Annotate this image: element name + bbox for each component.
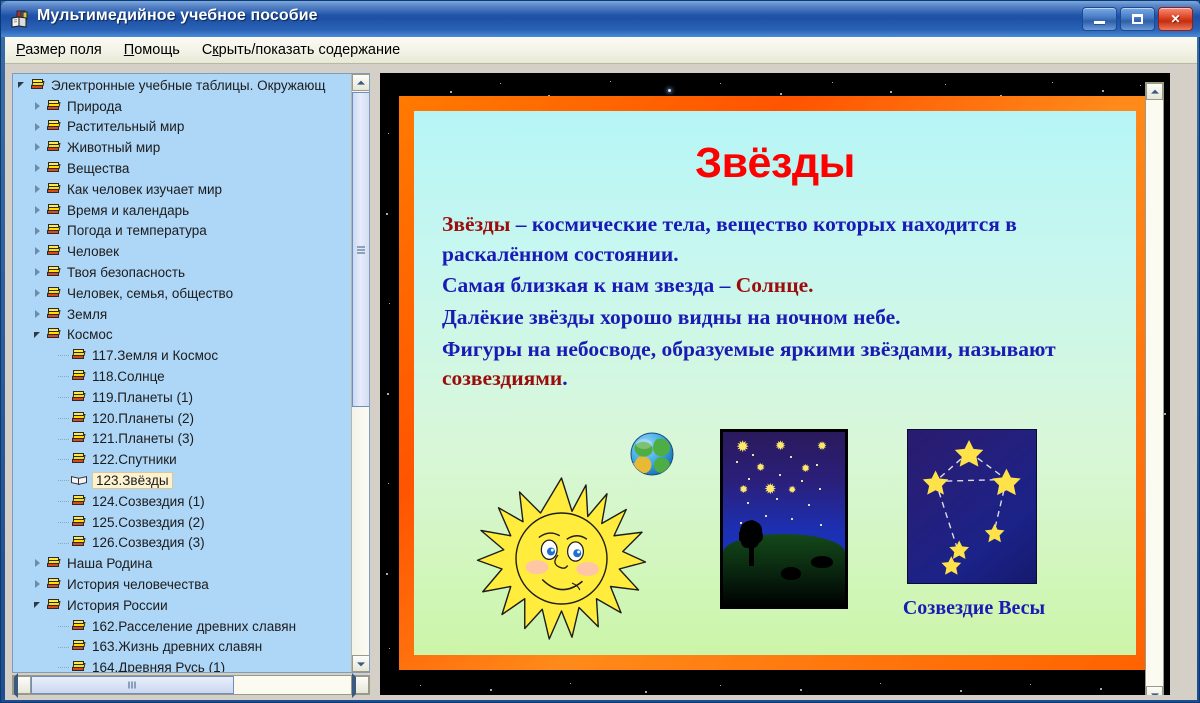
background-star <box>832 82 833 83</box>
tree-item[interactable]: 162.Расселение древних славян <box>13 616 352 637</box>
chevron-up-icon <box>357 80 365 84</box>
book-closed-icon <box>71 391 86 404</box>
star-dot <box>808 504 810 506</box>
book-closed-icon <box>46 287 61 300</box>
tree-indent-spacer <box>58 345 71 366</box>
tree-indent-spacer <box>58 470 71 491</box>
tree-item-label: Твоя безопасность <box>65 265 187 280</box>
background-star <box>386 213 388 215</box>
slide-canvas: Звёзды Звёзды – космические тела, вещест… <box>414 111 1136 655</box>
tree-item-label: 125.Созвездия (2) <box>90 515 207 530</box>
tree-indent-spacer <box>58 657 71 672</box>
tree-hscroll-track[interactable] <box>31 676 351 694</box>
background-star <box>420 685 421 686</box>
close-icon: ✕ <box>1159 8 1192 30</box>
menu-item-field-size[interactable]: Размер поля <box>5 39 113 61</box>
book-open-icon <box>71 474 88 487</box>
menu-item-post: омощь <box>134 42 180 58</box>
window-frame: Мультимедийное учебное пособие ✕ Размер … <box>0 0 1200 703</box>
background-star <box>945 84 946 85</box>
background-star <box>388 483 389 484</box>
tree-scroll-right-button[interactable] <box>351 676 369 694</box>
tree-item[interactable]: 121.Планеты (3) <box>13 429 352 450</box>
tree-indent-spacer <box>58 637 71 658</box>
slide-title: Звёзды <box>414 139 1136 188</box>
tree-item[interactable]: 164.Древняя Русь (1) <box>13 657 352 672</box>
background-star <box>387 393 389 395</box>
tree-item[interactable]: Растительный мир <box>13 117 352 138</box>
book-closed-icon <box>46 120 61 133</box>
night-sky-illustration: ✹ ✹ ✹ ✹ ✹ ✹ ✹ ✹ <box>720 429 848 609</box>
background-star <box>668 89 671 92</box>
star-dot <box>747 502 749 504</box>
tree-item[interactable]: Земля <box>13 304 352 325</box>
background-star <box>890 91 892 93</box>
background-star <box>490 689 492 691</box>
maximize-icon <box>1132 14 1143 24</box>
tree-indent-spacer <box>58 491 71 512</box>
star-dot <box>820 524 822 526</box>
slide-paragraph: Фигуры на небосводе, образуемые яркими з… <box>442 335 1108 394</box>
expand-triangle-icon[interactable] <box>33 304 46 325</box>
tree-item[interactable]: 124.Созвездия (1) <box>13 491 352 512</box>
star-dot <box>791 518 793 520</box>
book-closed-icon <box>71 536 86 549</box>
close-button[interactable]: ✕ <box>1158 7 1193 31</box>
star-dot <box>801 480 803 482</box>
background-star <box>645 691 647 693</box>
tree-item-label: История человечества <box>65 577 211 592</box>
tree-silhouette-icon <box>739 520 765 566</box>
book-closed-icon <box>46 308 61 321</box>
slide-orange-frame: Звёзды Звёзды – космические тела, вещест… <box>399 96 1151 670</box>
slide-scroll-up-button[interactable] <box>1146 83 1163 100</box>
background-star <box>450 91 452 93</box>
constellation-libra-illustration <box>907 429 1037 584</box>
star-dot <box>819 488 821 490</box>
menu-item-pre: С <box>202 42 212 58</box>
background-star <box>500 83 501 84</box>
menu-accel: П <box>124 42 134 58</box>
slide-paragraph: Самая близкая к нам звезда – Солнце. <box>442 271 1108 301</box>
star-dot <box>816 464 818 466</box>
menu-item-post: рыть/показать содержание <box>219 42 401 58</box>
book-icon <box>10 9 30 29</box>
background-star <box>386 573 388 575</box>
chevron-up-icon <box>1151 89 1159 93</box>
background-star <box>388 133 389 134</box>
expand-triangle-icon[interactable] <box>33 117 46 138</box>
star-icon: ✹ <box>764 482 777 497</box>
collapse-triangle-icon[interactable] <box>33 325 46 346</box>
tree-indent-spacer <box>58 616 71 637</box>
book-closed-icon <box>71 432 86 445</box>
window-controls: ✕ <box>1082 7 1193 31</box>
expand-triangle-icon[interactable] <box>33 553 46 574</box>
tree-item-label: 121.Планеты (3) <box>90 431 196 446</box>
expand-triangle-icon[interactable] <box>33 283 46 304</box>
application-window: Мультимедийное учебное пособие ✕ Размер … <box>0 0 1200 703</box>
book-closed-icon <box>30 79 45 92</box>
background-star <box>800 689 802 691</box>
contents-tree-panel: Электронные учебные таблицы. ОкружающПри… <box>12 73 370 673</box>
slide-body-text: Звёзды – космические тела, вещество кото… <box>442 210 1108 394</box>
star-dot <box>790 456 792 458</box>
book-closed-icon <box>71 661 86 672</box>
tree-item-label: 123.Звёзды <box>92 472 173 489</box>
background-star <box>1164 413 1166 415</box>
star-dot <box>752 454 754 456</box>
star-dot <box>736 461 738 463</box>
slide-text-run: Самая близкая к нам звезда – <box>442 273 736 297</box>
chevron-left-icon <box>14 673 18 698</box>
tree-indent-spacer <box>58 533 71 554</box>
tree-item-label: Наша Родина <box>65 556 154 571</box>
book-closed-icon <box>46 162 61 175</box>
title-bar: Мультимедийное учебное пособие ✕ <box>1 1 1200 37</box>
chevron-right-icon <box>352 673 356 698</box>
tree-item[interactable]: Как человек изучает мир <box>13 179 352 200</box>
background-star <box>880 683 881 684</box>
book-closed-icon <box>46 599 61 612</box>
maximize-button[interactable] <box>1120 7 1155 31</box>
background-star <box>389 303 390 304</box>
tree-horizontal-scrollbar[interactable] <box>12 675 370 695</box>
star-dot <box>776 498 778 500</box>
slide-viewer: Звёзды Звёзды – космические тела, вещест… <box>380 73 1170 695</box>
contents-tree-viewport: Электронные учебные таблицы. ОкружающПри… <box>13 74 352 672</box>
book-closed-icon <box>71 370 86 383</box>
slide-text-run: созвездиями <box>442 366 562 390</box>
tree-item-label: Животный мир <box>65 140 162 155</box>
book-closed-icon <box>46 183 61 196</box>
tree-item[interactable]: Человек, семья, общество <box>13 283 352 304</box>
tree-item[interactable]: Погода и температура <box>13 221 352 242</box>
book-closed-icon <box>46 204 61 217</box>
tree-item[interactable]: 119.Планеты (1) <box>13 387 352 408</box>
expand-triangle-icon[interactable] <box>33 241 46 262</box>
tree-item[interactable]: Животный мир <box>13 137 352 158</box>
tree-item-label: Космос <box>65 327 115 342</box>
earth-globe-illustration <box>629 431 675 477</box>
tree-item[interactable]: История России <box>13 595 352 616</box>
scrollbar-grip-icon <box>128 682 137 689</box>
tree-indent-spacer <box>58 449 71 470</box>
book-closed-icon <box>46 100 61 113</box>
slide-text-run: Солнце. <box>736 273 814 297</box>
slide-vertical-scrollbar[interactable] <box>1145 82 1164 695</box>
tree-item[interactable]: Твоя безопасность <box>13 262 352 283</box>
tree-item-label: Растительный мир <box>65 119 186 134</box>
star-icon: ✹ <box>739 485 748 496</box>
tree-item-label: 164.Древняя Русь (1) <box>90 660 227 672</box>
tree-item-label: Человек <box>65 244 121 259</box>
background-star <box>1140 85 1141 86</box>
slide-text-run: . <box>562 366 567 390</box>
scrollbar-grip-icon <box>357 246 365 253</box>
background-star <box>1052 82 1053 83</box>
menu-item-toggle-contents[interactable]: Скрыть/показать содержание <box>191 39 411 61</box>
tree-item-label: 126.Созвездия (3) <box>90 535 207 550</box>
slide-text-run: Далёкие звёзды хорошо видны на ночном не… <box>442 305 900 329</box>
book-closed-icon <box>71 640 86 653</box>
tree-item[interactable]: Космос <box>13 325 352 346</box>
background-star <box>610 81 611 82</box>
tree-item-label: 122.Спутники <box>90 452 179 467</box>
tree-indent-spacer <box>58 366 71 387</box>
background-star <box>960 690 962 692</box>
expand-triangle-icon[interactable] <box>33 574 46 595</box>
tree-scroll-left-button[interactable] <box>13 676 31 694</box>
tree-item[interactable]: Электронные учебные таблицы. Окружающ <box>13 75 352 96</box>
background-star <box>720 685 721 686</box>
bush-silhouette <box>811 556 833 568</box>
window-title: Мультимедийное учебное пособие <box>37 7 318 25</box>
menu-bar: Размер поля Помощь Скрыть/показать содер… <box>5 37 1197 64</box>
tree-indent-spacer <box>58 429 71 450</box>
background-star <box>1102 90 1104 92</box>
slide-paragraph: Звёзды – космические тела, вещество кото… <box>442 210 1108 269</box>
star-icon: ✹ <box>775 439 786 452</box>
tree-item[interactable]: Наша Родина <box>13 553 352 574</box>
tree-item[interactable]: Природа <box>13 96 352 117</box>
tree-item-label: 117.Земля и Космос <box>90 348 220 363</box>
book-closed-icon <box>71 412 86 425</box>
expand-triangle-icon[interactable] <box>33 200 46 221</box>
tree-item-label: 120.Планеты (2) <box>90 411 196 426</box>
book-closed-icon <box>71 516 86 529</box>
tree-item-label: Время и календарь <box>65 203 191 218</box>
tree-item-label: Земля <box>65 307 109 322</box>
tree-item-label: Человек, семья, общество <box>65 286 235 301</box>
tree-item[interactable]: 126.Созвездия (3) <box>13 533 352 554</box>
slide-scroll-down-button[interactable] <box>1146 686 1163 695</box>
star-dot <box>748 478 750 480</box>
constellation-caption: Созвездие Весы <box>884 597 1064 620</box>
expand-triangle-icon[interactable] <box>33 179 46 200</box>
background-star <box>780 93 782 95</box>
night-sky-canvas: ✹ ✹ ✹ ✹ ✹ ✹ ✹ ✹ <box>723 432 845 606</box>
window-content: Электронные учебные таблицы. ОкружающПри… <box>5 64 1197 700</box>
cartoon-sun-illustration <box>474 471 649 646</box>
book-closed-icon <box>46 557 61 570</box>
slide-paragraph: Далёкие звёзды хорошо видны на ночном не… <box>442 303 1108 333</box>
tree-item[interactable]: Время и календарь <box>13 200 352 221</box>
background-star <box>570 683 571 684</box>
tree-indent-spacer <box>58 387 71 408</box>
expand-triangle-icon[interactable] <box>33 262 46 283</box>
bush-silhouette <box>781 567 801 580</box>
tree-scrollbar-thumb[interactable] <box>352 92 370 407</box>
tree-scroll-down-button[interactable] <box>352 655 370 672</box>
tree-item-label: 119.Планеты (1) <box>90 390 195 405</box>
tree-item-label: История России <box>65 598 170 613</box>
tree-item-label: 163.Жизнь древних славян <box>90 639 264 654</box>
menu-item-help[interactable]: Помощь <box>113 39 191 61</box>
tree-item-label: Вещества <box>65 161 131 176</box>
expand-triangle-icon[interactable] <box>33 137 46 158</box>
star-icon: ✹ <box>756 463 765 474</box>
menu-item-post: азмер поля <box>25 42 102 58</box>
slide-text-run: Звёзды <box>442 212 510 236</box>
collapse-triangle-icon[interactable] <box>33 595 46 616</box>
minimize-button[interactable] <box>1082 7 1117 31</box>
menu-accel: Р <box>16 42 25 58</box>
tree-item[interactable]: Вещества <box>13 158 352 179</box>
chevron-down-icon <box>357 662 365 666</box>
book-closed-icon <box>46 266 61 279</box>
slide-text-run: Фигуры на небосводе, образуемые яркими з… <box>442 337 1056 361</box>
tree-item[interactable]: 163.Жизнь древних славян <box>13 637 352 658</box>
tree-item-label: 124.Созвездия (1) <box>90 494 207 509</box>
slide-illustrations: ✹ ✹ ✹ ✹ ✹ ✹ ✹ ✹ <box>414 429 1136 655</box>
background-star <box>1030 684 1031 685</box>
tree-item[interactable]: 117.Земля и Космос <box>13 345 352 366</box>
star-dot <box>740 522 742 524</box>
book-closed-icon <box>46 245 61 258</box>
contents-tree: Электронные учебные таблицы. ОкружающПри… <box>13 75 352 672</box>
tree-item[interactable]: 118.Солнце <box>13 366 352 387</box>
book-closed-icon <box>46 578 61 591</box>
tree-item[interactable]: 120.Планеты (2) <box>13 408 352 429</box>
collapse-triangle-icon[interactable] <box>17 75 30 96</box>
tree-indent-spacer <box>58 512 71 533</box>
star-icon: ✹ <box>817 440 827 452</box>
book-closed-icon <box>46 328 61 341</box>
expand-triangle-icon[interactable] <box>33 221 46 242</box>
tree-item-label: Природа <box>65 99 124 114</box>
tree-item[interactable]: История человечества <box>13 574 352 595</box>
book-closed-icon <box>71 349 86 362</box>
tree-item-label: 162.Расселение древних славян <box>90 619 298 634</box>
tree-item-label: Как человек изучает мир <box>65 182 224 197</box>
book-closed-icon <box>71 620 86 633</box>
slide-text-run: – космические тела, вещество которых нах… <box>442 212 1017 266</box>
book-closed-icon <box>71 495 86 508</box>
book-closed-icon <box>46 224 61 237</box>
star-dot <box>779 474 781 476</box>
book-closed-icon <box>71 453 86 466</box>
background-star <box>1100 688 1102 690</box>
tree-item-label: Погода и температура <box>65 223 209 238</box>
tree-vertical-scrollbar[interactable] <box>351 74 369 672</box>
minimize-icon <box>1094 21 1105 24</box>
background-star <box>389 648 390 649</box>
tree-item-selected[interactable]: 123.Звёзды <box>13 470 352 491</box>
tree-item[interactable]: Человек <box>13 241 352 262</box>
tree-item[interactable]: 122.Спутники <box>13 449 352 470</box>
star-icon: ✹ <box>736 440 749 456</box>
tree-scroll-up-button[interactable] <box>352 74 370 91</box>
background-star <box>720 83 721 84</box>
tree-hscrollbar-thumb[interactable] <box>31 676 234 694</box>
tree-item-label: 118.Солнце <box>90 369 167 384</box>
star-icon: ✹ <box>801 464 810 475</box>
expand-triangle-icon[interactable] <box>33 96 46 117</box>
tree-indent-spacer <box>58 408 71 429</box>
star-dot <box>765 515 767 517</box>
tree-item[interactable]: 125.Созвездия (2) <box>13 512 352 533</box>
star-icon: ✹ <box>788 486 796 496</box>
chevron-down-icon <box>1151 693 1159 695</box>
expand-triangle-icon[interactable] <box>33 158 46 179</box>
book-closed-icon <box>46 141 61 154</box>
tree-item-label: Электронные учебные таблицы. Окружающ <box>49 78 328 93</box>
